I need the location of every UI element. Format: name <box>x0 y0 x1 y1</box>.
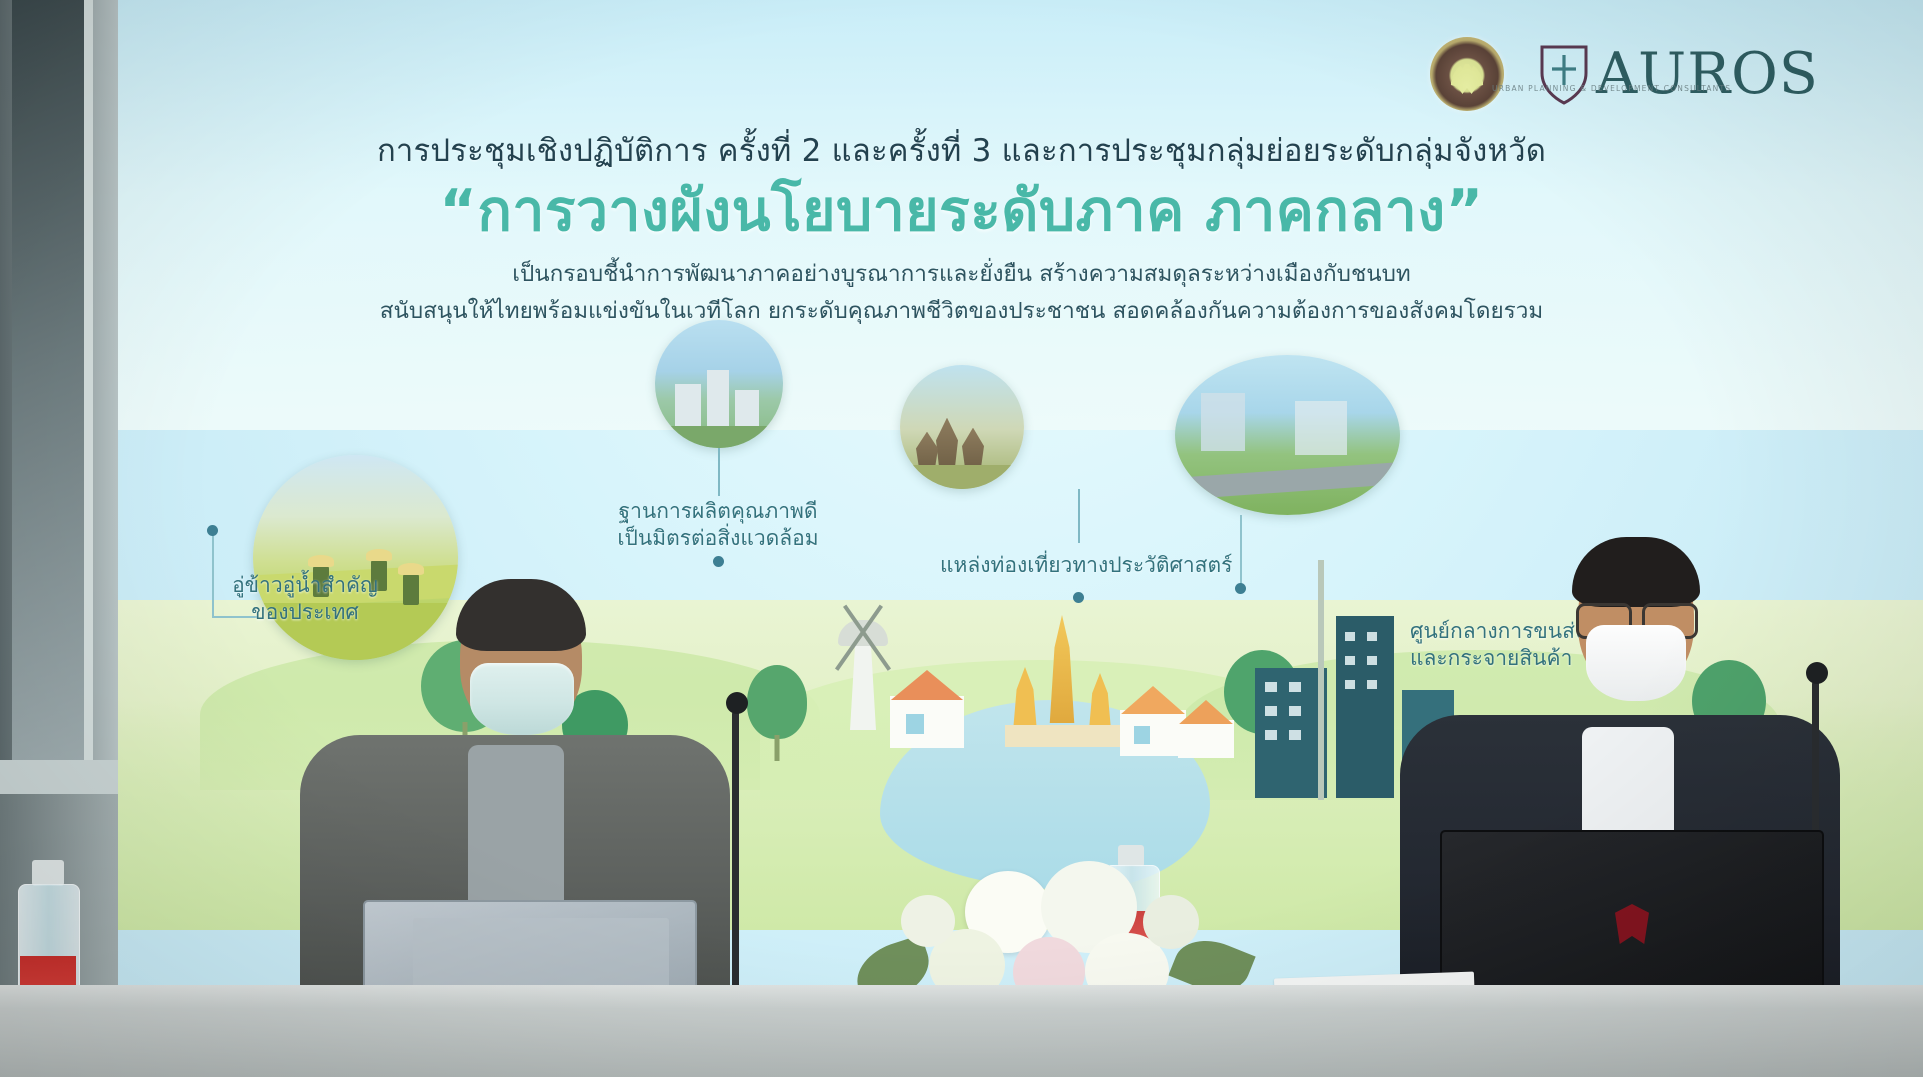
thai-garuda-emblem-icon <box>1430 37 1504 111</box>
production-label-line2: เป็นมิตรต่อสิ่งแวดล้อม <box>617 526 818 550</box>
historic-temple-photo <box>900 365 1024 489</box>
logistics-photo <box>1175 355 1400 515</box>
tower-illustration <box>1318 560 1324 800</box>
house-illustration <box>890 670 964 748</box>
production-label: ฐานการผลิตคุณภาพดี เป็นมิตรต่อสิ่งแวดล้อ… <box>598 498 838 553</box>
production-label-line1: ฐานการผลิตคุณภาพดี <box>619 499 818 523</box>
connector-line <box>718 448 720 496</box>
connector-dot <box>713 556 724 567</box>
connector-dot <box>1073 592 1084 603</box>
infographic-node-logistics: ศูนย์กลางการขนส่ง และกระจายสินค้า <box>0 0 225 160</box>
video-frame: AUROS URBAN PLANNING & DEVELOPMENT CONSU… <box>0 0 1923 1077</box>
window-sill <box>0 760 118 794</box>
connector-line <box>1078 489 1080 543</box>
connector-line <box>1240 515 1242 587</box>
auros-tagline: URBAN PLANNING & DEVELOPMENT CONSULTANTS <box>1492 84 1731 93</box>
header-logos: AUROS URBAN PLANNING & DEVELOPMENT CONSU… <box>1430 28 1900 120</box>
auros-logo: AUROS URBAN PLANNING & DEVELOPMENT CONSU… <box>1538 43 1819 105</box>
house-illustration <box>1120 686 1186 756</box>
speaker-right-face-mask <box>1586 625 1686 701</box>
conference-table <box>0 985 1923 1077</box>
banner-title: “การวางผังนโยบายระดับภาค ภาคกลาง” <box>0 177 1923 245</box>
banner-sub1: เป็นกรอบชี้นำการพัฒนาภาคอย่างบูรณาการและ… <box>0 257 1923 292</box>
speaker-left-face-mask <box>470 663 574 735</box>
building-illustration <box>1336 616 1394 798</box>
building-illustration <box>1255 668 1327 798</box>
pagoda-illustration <box>1005 615 1125 755</box>
connector-dot <box>1235 583 1246 594</box>
banner-line1: การประชุมเชิงปฏิบัติการ ครั้งที่ 2 และคร… <box>0 132 1923 171</box>
banner-heading: การประชุมเชิงปฏิบัติการ ครั้งที่ 2 และคร… <box>0 132 1923 329</box>
house-illustration <box>1178 700 1234 758</box>
tourism-label-line1: แหล่งท่องเที่ยวทางประวัติศาสตร์ <box>940 553 1232 577</box>
industry-photo <box>655 320 783 448</box>
tourism-label: แหล่งท่องเที่ยวทางประวัติศาสตร์ <box>940 552 1220 579</box>
auros-wordmark: AUROS <box>1596 46 1819 103</box>
connector-dot <box>207 525 218 536</box>
auros-shield-icon <box>1538 43 1590 105</box>
laptop-brand-logo-icon <box>1615 904 1649 944</box>
speaker-right-hair <box>1572 537 1700 607</box>
banner-sub2: สนับสนุนให้ไทยพร้อมแข่งขันในเวทีโลก ยกระ… <box>0 294 1923 329</box>
speaker-left-hair <box>456 579 586 651</box>
